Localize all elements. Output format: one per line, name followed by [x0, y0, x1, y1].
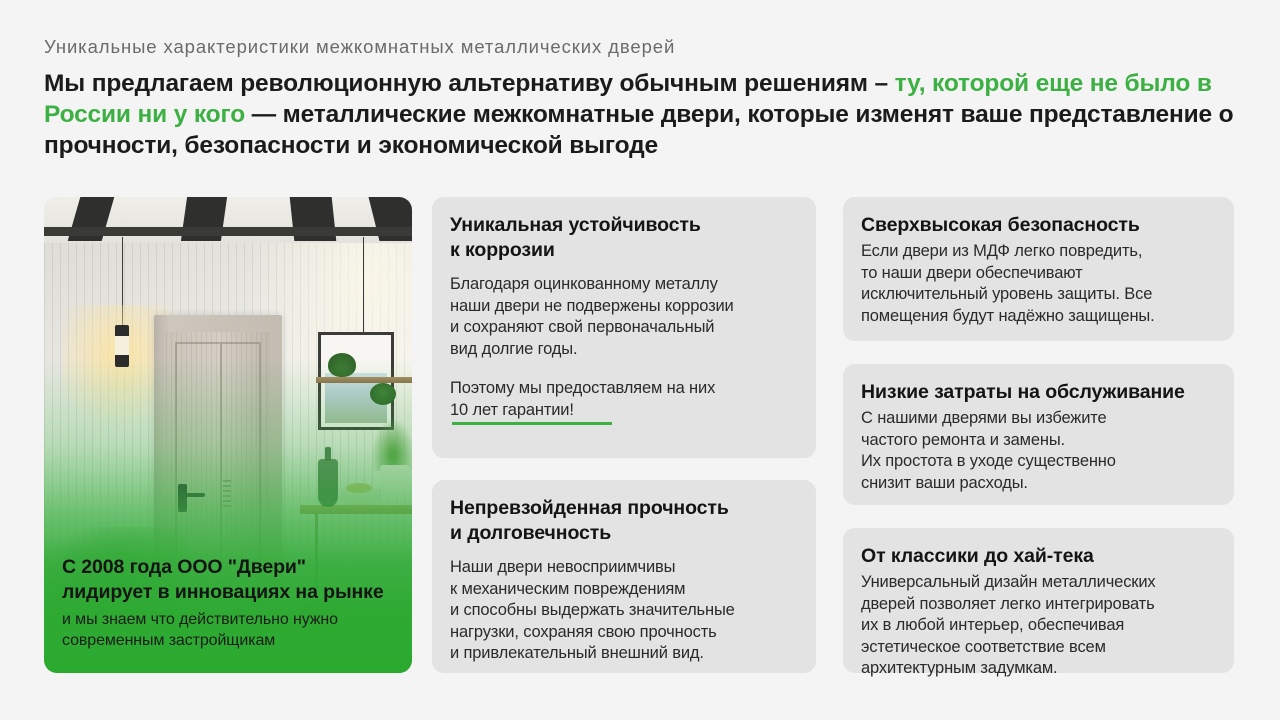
card-title: Низкие затраты на обслуживание [861, 380, 1216, 405]
photo-caption: С 2008 года ООО "Двери" лидирует в иннов… [62, 555, 400, 651]
card-title: Сверхвысокая безопасность [861, 213, 1216, 238]
page-title: Мы предлагаем революционную альтернативу… [44, 68, 1236, 161]
card-title: Уникальная устойчивость к коррозии [450, 213, 798, 263]
feature-card-security[interactable]: Сверхвысокая безопасность Если двери из … [843, 197, 1234, 341]
headline-segment-1: Мы предлагаем революционную альтернативу… [44, 70, 895, 97]
feature-card-strength[interactable]: Непревзойденная прочность и долговечност… [432, 480, 816, 673]
card-body: Универсальный дизайн металлических двере… [861, 572, 1216, 680]
photo-caption-subtitle: и мы знаем что действительно нужно совре… [62, 609, 400, 651]
card-body-secondary: Поэтому мы предоставляем на них 10 лет г… [450, 378, 798, 421]
accent-underline [452, 422, 612, 425]
photo-caption-title: С 2008 года ООО "Двери" лидирует в иннов… [62, 555, 400, 605]
interior-photo-card: С 2008 года ООО "Двери" лидирует в иннов… [44, 197, 412, 673]
card-body: Благодаря оцинкованному металлу наши две… [450, 274, 798, 360]
card-body: С нашими дверями вы избежите частого рем… [861, 408, 1216, 494]
card-title: Непревзойденная прочность и долговечност… [450, 496, 798, 546]
slide-root: Уникальные характеристики межкомнатных м… [0, 0, 1280, 720]
card-body: Если двери из МДФ легко повредить, то на… [861, 241, 1216, 327]
card-title: От классики до хай-тека [861, 544, 1216, 569]
card-body: Наши двери невосприимчивы к механическим… [450, 557, 798, 665]
feature-card-maintenance-cost[interactable]: Низкие затраты на обслуживание С нашими … [843, 364, 1234, 505]
feature-card-corrosion[interactable]: Уникальная устойчивость к коррозии Благо… [432, 197, 816, 458]
eyebrow-text: Уникальные характеристики межкомнатных м… [44, 36, 675, 58]
feature-card-design[interactable]: От классики до хай-тека Универсальный ди… [843, 528, 1234, 673]
